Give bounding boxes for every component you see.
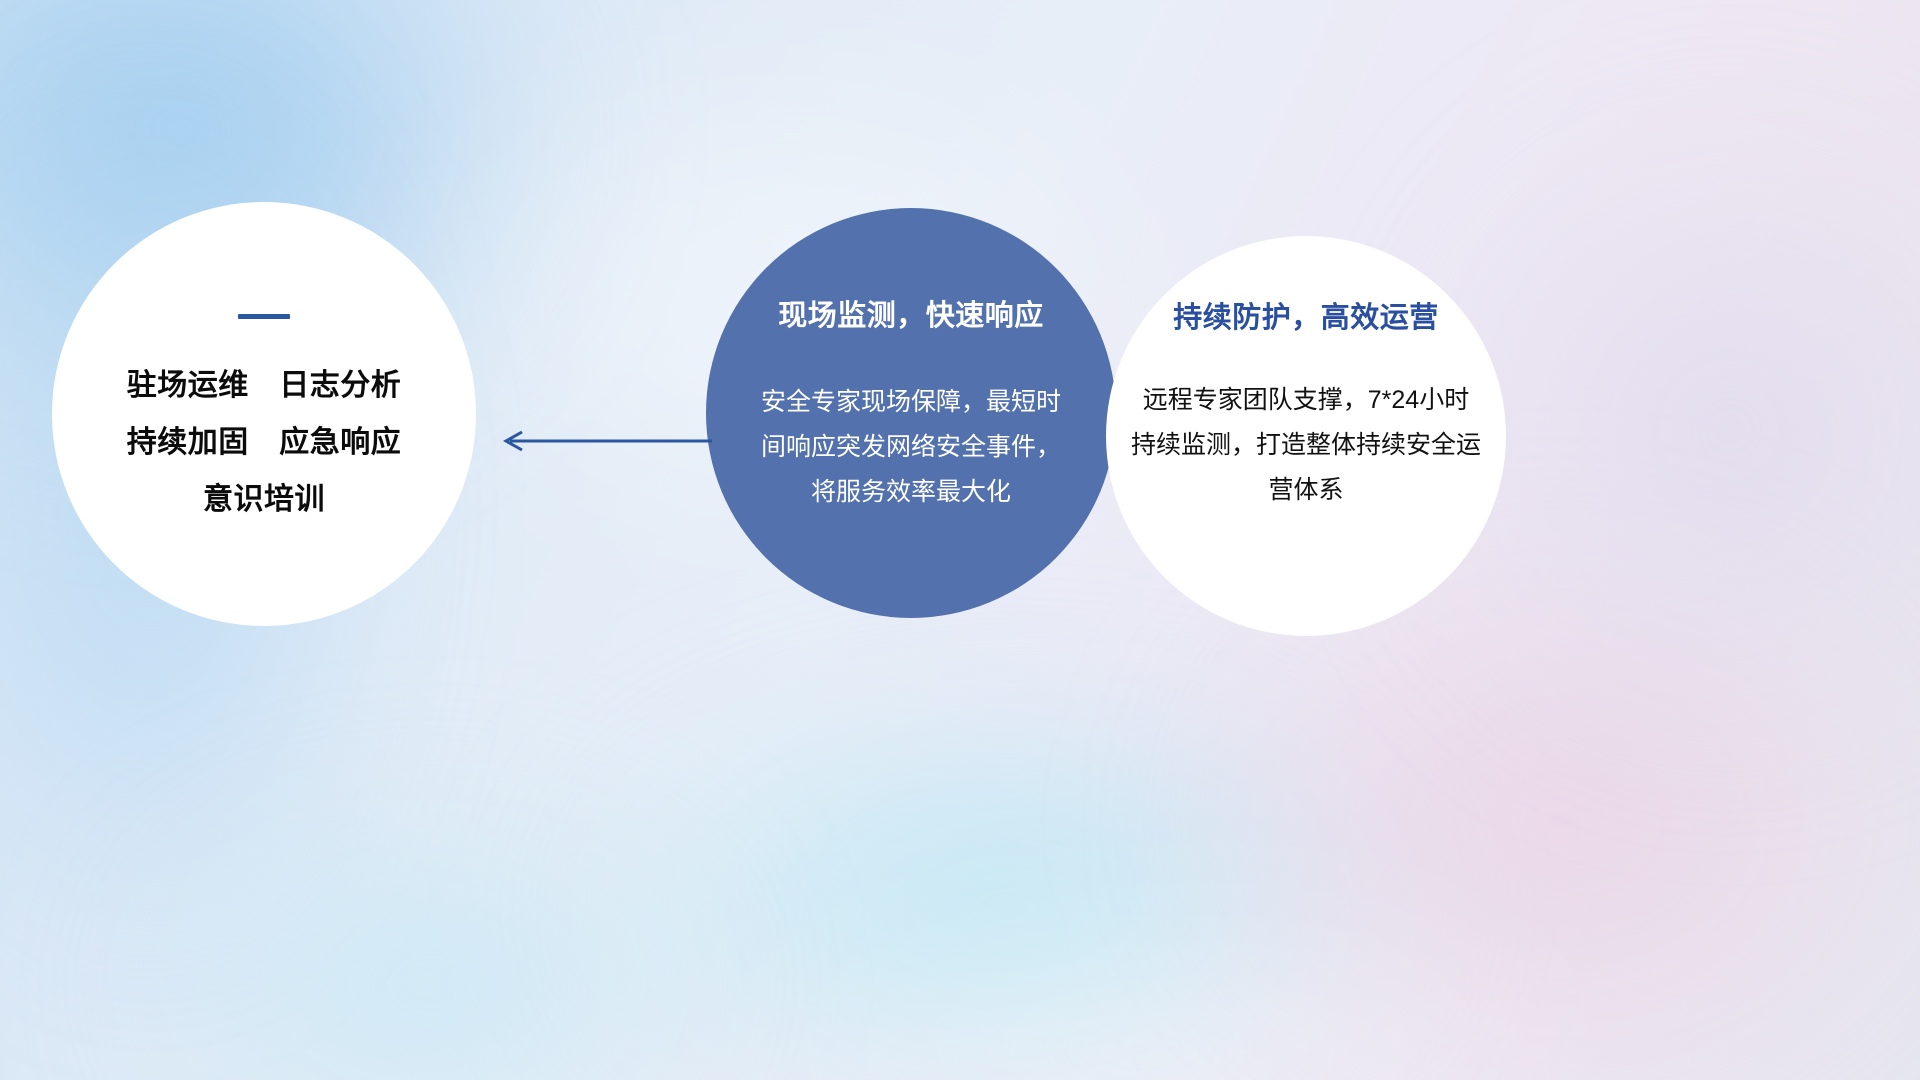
middle-circle-title: 现场监测，快速响应	[778, 292, 1044, 334]
horizontal-dash-icon	[238, 314, 290, 319]
left-keywords-line-2: 持续加固 应急响应	[127, 414, 402, 471]
right-circle-title: 持续防护，高效运营	[1173, 294, 1439, 336]
left-keyword-circle[interactable]: 驻场运维 日志分析 持续加固 应急响应 意识培训	[52, 202, 476, 626]
middle-blue-circle[interactable]: 现场监测，快速响应 安全专家现场保障，最短时间响应突发网络安全事件，将服务效率最…	[706, 208, 1116, 618]
right-white-circle[interactable]: 持续防护，高效运营 远程专家团队支撑，7*24小时持续监测，打造整体持续安全运营…	[1106, 236, 1506, 636]
right-circle-body: 远程专家团队支撑，7*24小时持续监测，打造整体持续安全运营体系	[1131, 378, 1481, 513]
slide-canvas: 驻场运维 日志分析 持续加固 应急响应 意识培训 现场监测，快速响应 安全专家现…	[0, 0, 1920, 1080]
left-arrow-icon	[492, 424, 712, 458]
middle-circle-body: 安全专家现场保障，最短时间响应突发网络安全事件，将服务效率最大化	[761, 380, 1061, 515]
left-keywords-line-3: 意识培训	[203, 471, 325, 528]
left-keywords-line-1: 驻场运维 日志分析	[127, 357, 402, 414]
